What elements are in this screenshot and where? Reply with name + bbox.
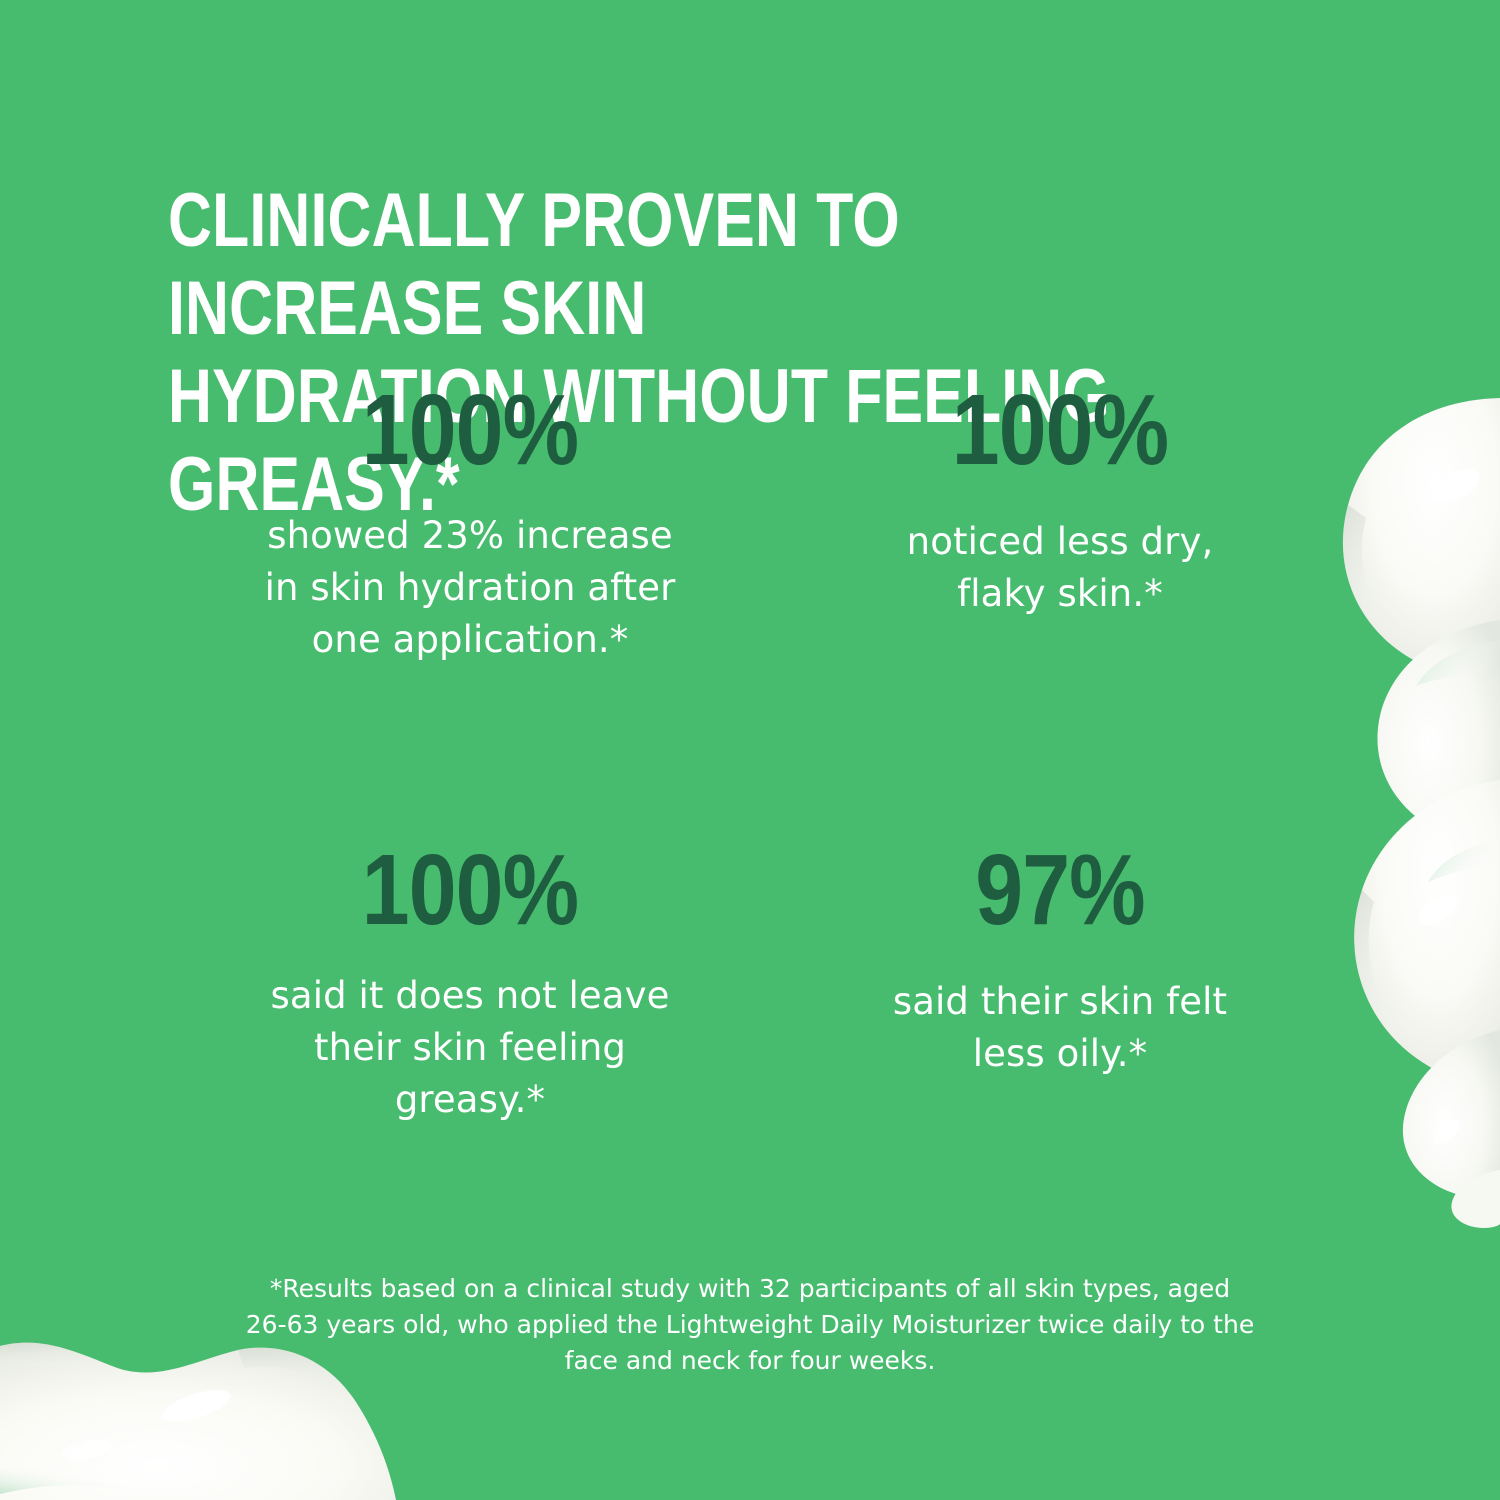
stats-grid: 100% showed 23% increase in skin hydrati… bbox=[150, 378, 1330, 1126]
stat-description: said it does not leave their skin feelin… bbox=[165, 970, 775, 1126]
disclaimer-footnote: *Results based on a clinical study with … bbox=[160, 1271, 1340, 1379]
stat-value: 100% bbox=[208, 838, 733, 942]
stat-description: showed 23% increase in skin hydration af… bbox=[165, 510, 775, 666]
stat-block-less-oily: 97% said their skin felt less oily.* bbox=[790, 838, 1330, 1126]
stat-description: said their skin felt less oily.* bbox=[830, 976, 1290, 1080]
stat-description: noticed less dry, flaky skin.* bbox=[830, 516, 1290, 620]
stat-value: 97% bbox=[862, 838, 1258, 942]
stat-value: 100% bbox=[208, 378, 733, 482]
stat-block-not-greasy: 100% said it does not leave their skin f… bbox=[150, 838, 790, 1126]
stat-block-hydration-increase: 100% showed 23% increase in skin hydrati… bbox=[150, 378, 790, 838]
stat-block-less-dry-flaky: 100% noticed less dry, flaky skin.* bbox=[790, 378, 1330, 838]
stat-value: 100% bbox=[862, 378, 1258, 482]
infographic-poster: Clinically proven to increase skin hydra… bbox=[0, 0, 1500, 1500]
